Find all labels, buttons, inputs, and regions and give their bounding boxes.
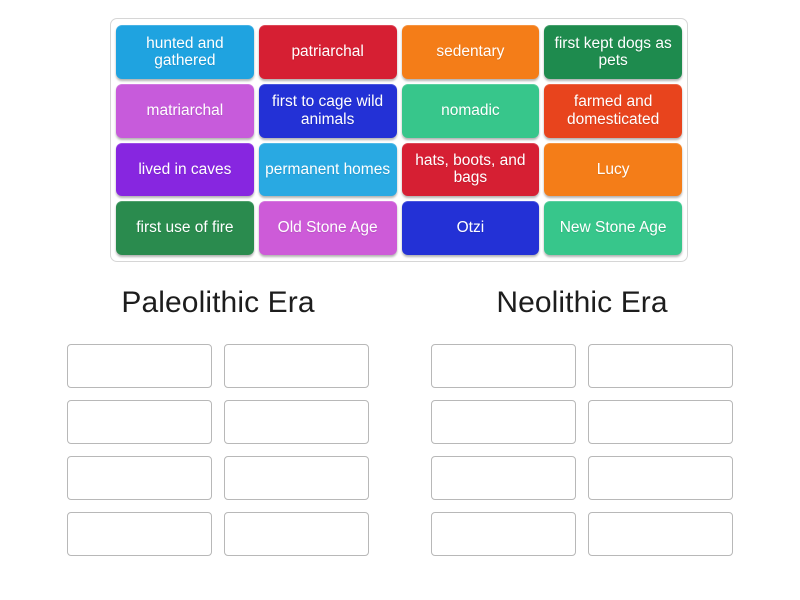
draggable-tile[interactable]: sedentary xyxy=(402,25,540,79)
tile-label: permanent homes xyxy=(265,161,390,178)
tile-label: New Stone Age xyxy=(560,219,667,236)
tile-label: patriarchal xyxy=(291,43,363,60)
draggable-tile[interactable]: first use of fire xyxy=(116,201,254,255)
drop-slot-grid xyxy=(422,344,742,556)
drop-slot[interactable] xyxy=(431,400,576,444)
draggable-tile[interactable]: Otzi xyxy=(402,201,540,255)
tile-label: first to cage wild animals xyxy=(263,93,393,128)
drop-slot[interactable] xyxy=(431,512,576,556)
tile-label: Lucy xyxy=(597,161,630,178)
tile-label: first kept dogs as pets xyxy=(548,35,678,70)
tile-label: hunted and gathered xyxy=(120,35,250,70)
draggable-tile[interactable]: matriarchal xyxy=(116,84,254,138)
drop-slot[interactable] xyxy=(67,344,212,388)
drop-slot-grid xyxy=(58,344,378,556)
tile-bank: hunted and gatheredpatriarchalsedentaryf… xyxy=(110,18,688,262)
category-title: Neolithic Era xyxy=(422,288,742,318)
tile-label: farmed and domesticated xyxy=(548,93,678,128)
category-columns: Paleolithic EraNeolithic Era xyxy=(0,288,800,556)
drop-slot[interactable] xyxy=(588,456,733,500)
draggable-tile[interactable]: patriarchal xyxy=(259,25,397,79)
draggable-tile[interactable]: Lucy xyxy=(544,143,682,197)
draggable-tile[interactable]: Old Stone Age xyxy=(259,201,397,255)
draggable-tile[interactable]: hunted and gathered xyxy=(116,25,254,79)
draggable-tile[interactable]: nomadic xyxy=(402,84,540,138)
tile-label: hats, boots, and bags xyxy=(406,152,536,187)
drop-slot[interactable] xyxy=(224,344,369,388)
drop-slot[interactable] xyxy=(588,400,733,444)
draggable-tile[interactable]: permanent homes xyxy=(259,143,397,197)
tile-grid: hunted and gatheredpatriarchalsedentaryf… xyxy=(116,25,682,255)
tile-label: lived in caves xyxy=(138,161,231,178)
drop-slot[interactable] xyxy=(431,456,576,500)
tile-label: Otzi xyxy=(457,219,485,236)
draggable-tile[interactable]: farmed and domesticated xyxy=(544,84,682,138)
drop-slot[interactable] xyxy=(588,512,733,556)
drop-slot[interactable] xyxy=(224,512,369,556)
drop-slot[interactable] xyxy=(67,512,212,556)
draggable-tile[interactable]: New Stone Age xyxy=(544,201,682,255)
draggable-tile[interactable]: first kept dogs as pets xyxy=(544,25,682,79)
category-title: Paleolithic Era xyxy=(58,288,378,318)
draggable-tile[interactable]: hats, boots, and bags xyxy=(402,143,540,197)
draggable-tile[interactable]: lived in caves xyxy=(116,143,254,197)
tile-label: Old Stone Age xyxy=(278,219,378,236)
drop-slot[interactable] xyxy=(588,344,733,388)
drop-slot[interactable] xyxy=(224,400,369,444)
tile-label: sedentary xyxy=(436,43,504,60)
category-column: Paleolithic Era xyxy=(58,288,378,556)
draggable-tile[interactable]: first to cage wild animals xyxy=(259,84,397,138)
tile-label: matriarchal xyxy=(147,102,224,119)
tile-label: nomadic xyxy=(441,102,500,119)
drop-slot[interactable] xyxy=(67,456,212,500)
drop-slot[interactable] xyxy=(67,400,212,444)
drop-slot[interactable] xyxy=(224,456,369,500)
category-column: Neolithic Era xyxy=(422,288,742,556)
drop-slot[interactable] xyxy=(431,344,576,388)
tile-label: first use of fire xyxy=(136,219,233,236)
